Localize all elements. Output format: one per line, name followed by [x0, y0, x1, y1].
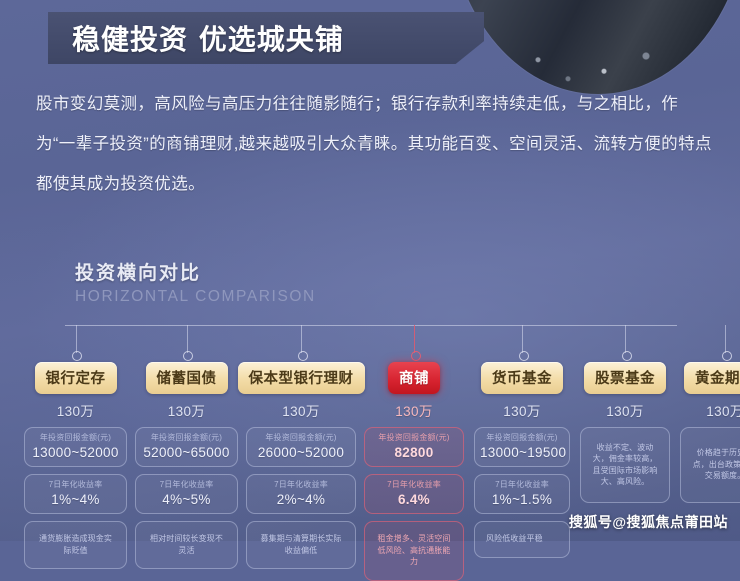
column-principal-amount: 130万 — [606, 400, 644, 420]
column-title-pill[interactable]: 商铺 — [388, 362, 440, 394]
column-principal-amount: 130万 — [57, 400, 95, 420]
timeline-bracket — [65, 325, 677, 363]
timeline-node-dot — [183, 351, 193, 361]
annual-return-box: 年投资回报金额(元)82800 — [364, 427, 464, 467]
annual-return-label: 年投资回报金额(元) — [370, 432, 458, 443]
comparison-column[interactable]: 储蓄国债130万年投资回报金额(元)52000~650007日年化收益率4%~5… — [135, 362, 238, 581]
yield-rate-box: 7日年化收益率1%~4% — [24, 474, 127, 514]
comparison-column[interactable]: 商铺130万年投资回报金额(元)828007日年化收益率6.4%租金增多、灵活空… — [364, 362, 464, 581]
column-title-pill[interactable]: 银行定存 — [35, 362, 117, 394]
timeline-node-dot — [622, 351, 632, 361]
column-title-pill[interactable]: 黄金期货 — [684, 362, 740, 394]
comparison-column[interactable]: 银行定存130万年投资回报金额(元)13000~520007日年化收益率1%~4… — [24, 362, 127, 581]
yield-rate-value: 2%~4% — [252, 491, 350, 508]
header-banner: 稳健投资 优选城央铺 — [48, 12, 484, 64]
yield-rate-value: 4%~5% — [141, 491, 232, 508]
yield-rate-box: 7日年化收益率4%~5% — [135, 474, 238, 514]
timeline-node-dot — [72, 351, 82, 361]
timeline-stem — [301, 325, 302, 353]
section-title-cn: 投资横向对比 — [75, 258, 316, 285]
yield-rate-label: 7日年化收益率 — [370, 479, 458, 490]
yield-rate-value: 1%~1.5% — [480, 491, 564, 508]
column-title-pill[interactable]: 货币基金 — [481, 362, 563, 394]
annual-return-value: 13000~52000 — [30, 444, 121, 461]
column-principal-amount: 130万 — [168, 400, 206, 420]
watermark: 搜狐号@搜狐焦点莆田站 — [569, 512, 728, 532]
column-note-text: 价格趋于历史高点，出台政策限取交易额度。 — [686, 432, 740, 497]
column-principal-amount: 130万 — [503, 400, 541, 420]
annual-return-value: 82800 — [370, 444, 458, 461]
page-root: 稳健投资 优选城央铺 股市变幻莫测，高风险与高压力往往随影随行；银行存款利率持续… — [0, 0, 740, 541]
yield-rate-box: 7日年化收益率1%~1.5% — [474, 474, 570, 514]
annual-return-value: 26000~52000 — [252, 444, 350, 461]
annual-return-label: 年投资回报金额(元) — [252, 432, 350, 443]
page-title: 稳健投资 优选城央铺 — [72, 18, 344, 58]
yield-rate-label: 7日年化收益率 — [480, 479, 564, 490]
column-principal-amount: 130万 — [706, 400, 740, 420]
yield-rate-label: 7日年化收益率 — [141, 479, 232, 490]
annual-return-box: 年投资回报金额(元)26000~52000 — [246, 427, 356, 467]
column-note-text: 租金增多、灵活空间低风险、高抗通胀能力 — [370, 526, 458, 575]
comparison-column[interactable]: 黄金期货130万价格趋于历史高点，出台政策限取交易额度。 — [680, 362, 740, 581]
section-heading: 投资横向对比 HORIZONTAL COMPARISON — [75, 258, 316, 306]
aerial-cityscape-photo — [448, 0, 740, 94]
column-note-text: 收益不定、波动大，佣金率较高，且受国际市场影响大、高风险。 — [586, 432, 664, 497]
timeline-stem — [187, 325, 188, 353]
timeline-stem — [76, 325, 77, 353]
column-title-pill[interactable]: 股票基金 — [584, 362, 666, 394]
timeline-node-dot — [411, 351, 421, 361]
timeline-node-dot — [722, 351, 732, 361]
annual-return-box: 年投资回报金额(元)52000~65000 — [135, 427, 238, 467]
timeline-node-dot — [519, 351, 529, 361]
timeline-stem — [625, 325, 626, 353]
column-note-box: 价格趋于历史高点，出台政策限取交易额度。 — [680, 427, 740, 503]
yield-rate-value: 6.4% — [370, 491, 458, 508]
column-principal-amount: 130万 — [395, 400, 433, 420]
annual-return-label: 年投资回报金额(元) — [141, 432, 232, 443]
column-title-pill[interactable]: 储蓄国债 — [146, 362, 228, 394]
column-note-box: 相对时间较长变现不灵活 — [135, 521, 238, 569]
timeline-stem — [725, 325, 726, 353]
comparison-column[interactable]: 股票基金130万收益不定、波动大，佣金率较高，且受国际市场影响大、高风险。 — [580, 362, 670, 581]
timeline-stem — [414, 325, 415, 353]
annual-return-label: 年投资回报金额(元) — [30, 432, 121, 443]
annual-return-box: 年投资回报金额(元)13000~52000 — [24, 427, 127, 467]
comparison-column[interactable]: 货币基金130万年投资回报金额(元)13000~195007日年化收益率1%~1… — [474, 362, 570, 581]
yield-rate-label: 7日年化收益率 — [252, 479, 350, 490]
yield-rate-value: 1%~4% — [30, 491, 121, 508]
intro-paragraph: 股市变幻莫测，高风险与高压力往往随影随行；银行存款利率持续走低，与之相比，作为“… — [36, 84, 712, 204]
annual-return-value: 52000~65000 — [141, 444, 232, 461]
column-principal-amount: 130万 — [282, 400, 320, 420]
column-note-text: 通货膨胀造成现金实际贬值 — [30, 526, 121, 563]
yield-rate-label: 7日年化收益率 — [30, 479, 121, 490]
timeline-node-dot — [298, 351, 308, 361]
annual-return-value: 13000~19500 — [480, 444, 564, 461]
column-note-text: 募集期与清算期长实际收益偏低 — [252, 526, 350, 563]
column-note-box: 租金增多、灵活空间低风险、高抗通胀能力 — [364, 521, 464, 581]
section-title-en: HORIZONTAL COMPARISON — [75, 288, 316, 306]
column-title-pill[interactable]: 保本型银行理财 — [238, 362, 365, 394]
column-note-box: 募集期与清算期长实际收益偏低 — [246, 521, 356, 569]
yield-rate-box: 7日年化收益率2%~4% — [246, 474, 356, 514]
timeline-bar — [65, 325, 677, 326]
column-note-box: 收益不定、波动大，佣金率较高，且受国际市场影响大、高风险。 — [580, 427, 670, 503]
column-note-text: 风险低收益平稳 — [480, 526, 549, 552]
timeline-stem — [522, 325, 523, 353]
column-note-box: 风险低收益平稳 — [474, 521, 570, 558]
annual-return-box: 年投资回报金额(元)13000~19500 — [474, 427, 570, 467]
column-note-text: 相对时间较长变现不灵活 — [141, 526, 232, 563]
comparison-column[interactable]: 保本型银行理财130万年投资回报金额(元)26000~520007日年化收益率2… — [246, 362, 356, 581]
yield-rate-box: 7日年化收益率6.4% — [364, 474, 464, 514]
comparison-columns: 银行定存130万年投资回报金额(元)13000~520007日年化收益率1%~4… — [24, 362, 718, 581]
column-note-box: 通货膨胀造成现金实际贬值 — [24, 521, 127, 569]
annual-return-label: 年投资回报金额(元) — [480, 432, 564, 443]
